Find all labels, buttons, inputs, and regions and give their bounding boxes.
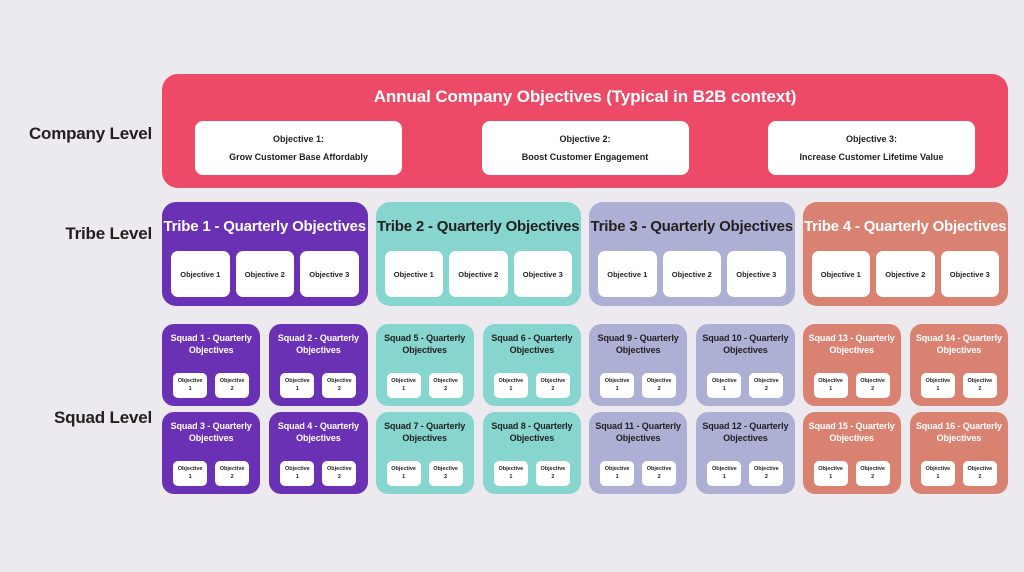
squad-objective-boxes: Objective1Objective2 — [910, 373, 1008, 398]
squad-group: Squad 9 - Quarterly ObjectivesObjective1… — [589, 324, 795, 406]
squad-objective-number: 2 — [551, 474, 554, 482]
squad-title: Squad 3 - Quarterly Objectives — [168, 420, 254, 444]
tribe-objective-box[interactable]: Objective 1 — [171, 251, 230, 297]
squad-objective-number: 1 — [723, 474, 726, 482]
squad-objective-number: 2 — [978, 386, 981, 394]
squad-objective-boxes: Objective1Objective2 — [696, 373, 794, 398]
squad-title: Squad 2 - Quarterly Objectives — [275, 332, 361, 356]
squad-row-top: Squad 1 - Quarterly ObjectivesObjective1… — [162, 324, 1008, 406]
squad-objective-box[interactable]: Objective2 — [642, 373, 676, 398]
squad-objective-number: 2 — [765, 474, 768, 482]
squad-objective-box[interactable]: Objective1 — [921, 373, 955, 398]
company-objective-text: Boost Customer Engagement — [522, 152, 649, 162]
squad-objective-box[interactable]: Objective1 — [494, 373, 528, 398]
squad-objective-boxes: Objective1Objective2 — [589, 461, 687, 486]
squad-objective-word: Objective — [540, 466, 565, 474]
squad-objective-box[interactable]: Objective1 — [280, 373, 314, 398]
squad-objective-box[interactable]: Objective1 — [280, 461, 314, 486]
company-objective-card[interactable]: Objective 1:Grow Customer Base Affordabl… — [195, 121, 402, 175]
squad-objective-box[interactable]: Objective1 — [600, 461, 634, 486]
squad-card[interactable]: Squad 16 - Quarterly ObjectivesObjective… — [910, 412, 1008, 494]
squad-card[interactable]: Squad 11 - Quarterly ObjectivesObjective… — [589, 412, 687, 494]
squad-title: Squad 6 - Quarterly Objectives — [489, 332, 575, 356]
squad-level-label: Squad Level — [0, 408, 152, 428]
squad-card[interactable]: Squad 10 - Quarterly ObjectivesObjective… — [696, 324, 794, 406]
tribe-card[interactable]: Tribe 3 - Quarterly ObjectivesObjective … — [589, 202, 795, 306]
squad-objective-boxes: Objective1Objective2 — [162, 373, 260, 398]
squad-objective-boxes: Objective1Objective2 — [803, 373, 901, 398]
squad-title: Squad 4 - Quarterly Objectives — [275, 420, 361, 444]
squad-title: Squad 16 - Quarterly Objectives — [916, 420, 1002, 444]
tribe-objective-boxes: Objective 1Objective 2Objective 3 — [598, 251, 786, 297]
tribe-objective-box[interactable]: Objective 2 — [663, 251, 722, 297]
squad-objective-box[interactable]: Objective1 — [814, 373, 848, 398]
tribe-objective-box[interactable]: Objective 3 — [727, 251, 786, 297]
squad-objective-word: Objective — [605, 466, 630, 474]
squad-objective-number: 2 — [444, 474, 447, 482]
squad-group: Squad 11 - Quarterly ObjectivesObjective… — [589, 412, 795, 494]
squad-objective-number: 1 — [829, 386, 832, 394]
squad-card[interactable]: Squad 6 - Quarterly ObjectivesObjective1… — [483, 324, 581, 406]
squad-objective-boxes: Objective1Objective2 — [589, 373, 687, 398]
tribe-title: Tribe 1 - Quarterly Objectives — [162, 218, 368, 235]
squad-objective-box[interactable]: Objective1 — [814, 461, 848, 486]
company-level-band: Annual Company Objectives (Typical in B2… — [162, 74, 1008, 188]
tribe-objective-box[interactable]: Objective 2 — [236, 251, 295, 297]
tribe-objective-box[interactable]: Objective 3 — [941, 251, 1000, 297]
squad-card[interactable]: Squad 13 - Quarterly ObjectivesObjective… — [803, 324, 901, 406]
squad-group: Squad 7 - Quarterly ObjectivesObjective1… — [376, 412, 582, 494]
squad-title: Squad 7 - Quarterly Objectives — [382, 420, 468, 444]
squad-objective-box[interactable]: Objective2 — [322, 461, 356, 486]
squad-objective-box[interactable]: Objective1 — [494, 461, 528, 486]
squad-title: Squad 10 - Quarterly Objectives — [702, 332, 788, 356]
squad-objective-word: Objective — [220, 466, 245, 474]
squad-title: Squad 14 - Quarterly Objectives — [916, 332, 1002, 356]
squad-objective-word: Objective — [391, 466, 416, 474]
squad-objective-number: 1 — [509, 474, 512, 482]
squad-objective-number: 1 — [189, 474, 192, 482]
squad-objective-word: Objective — [220, 378, 245, 386]
squad-objective-number: 1 — [509, 386, 512, 394]
squad-objective-box[interactable]: Objective2 — [856, 461, 890, 486]
squad-objective-word: Objective — [498, 378, 523, 386]
squad-objective-box[interactable]: Objective1 — [387, 373, 421, 398]
squad-objective-box[interactable]: Objective2 — [429, 461, 463, 486]
squad-objective-number: 1 — [402, 474, 405, 482]
squad-objective-number: 1 — [936, 474, 939, 482]
squad-card[interactable]: Squad 2 - Quarterly ObjectivesObjective1… — [269, 324, 367, 406]
squad-group: Squad 13 - Quarterly ObjectivesObjective… — [803, 324, 1009, 406]
tribe-card[interactable]: Tribe 2 - Quarterly ObjectivesObjective … — [376, 202, 582, 306]
squad-card[interactable]: Squad 15 - Quarterly ObjectivesObjective… — [803, 412, 901, 494]
tribe-level-label: Tribe Level — [0, 224, 152, 244]
squad-card[interactable]: Squad 4 - Quarterly ObjectivesObjective1… — [269, 412, 367, 494]
squad-title: Squad 11 - Quarterly Objectives — [595, 420, 681, 444]
tribe-objective-boxes: Objective 1Objective 2Objective 3 — [385, 251, 573, 297]
squad-objective-box[interactable]: Objective2 — [536, 373, 570, 398]
squad-objective-word: Objective — [647, 378, 672, 386]
squad-objective-word: Objective — [860, 466, 885, 474]
squad-objective-boxes: Objective1Objective2 — [269, 373, 367, 398]
tribe-objective-box[interactable]: Objective 1 — [812, 251, 871, 297]
company-objective-card[interactable]: Objective 2:Boost Customer Engagement — [482, 121, 689, 175]
tribe-objective-box[interactable]: Objective 2 — [876, 251, 935, 297]
squad-objective-boxes: Objective1Objective2 — [269, 461, 367, 486]
squad-objective-number: 2 — [978, 474, 981, 482]
squad-objective-box[interactable]: Objective2 — [749, 461, 783, 486]
squad-objective-number: 2 — [871, 386, 874, 394]
squad-objective-box[interactable]: Objective1 — [707, 461, 741, 486]
squad-objective-word: Objective — [327, 466, 352, 474]
squad-objective-boxes: Objective1Objective2 — [483, 373, 581, 398]
squad-objective-word: Objective — [285, 466, 310, 474]
company-level-label: Company Level — [0, 124, 152, 144]
squad-objective-word: Objective — [433, 466, 458, 474]
squad-objective-boxes: Objective1Objective2 — [376, 461, 474, 486]
squad-objective-box[interactable]: Objective1 — [707, 373, 741, 398]
tribe-objective-box[interactable]: Objective 3 — [300, 251, 359, 297]
squad-objective-word: Objective — [967, 466, 992, 474]
squad-objective-number: 1 — [616, 474, 619, 482]
tribe-objective-boxes: Objective 1Objective 2Objective 3 — [812, 251, 1000, 297]
squad-title: Squad 15 - Quarterly Objectives — [809, 420, 895, 444]
squad-objective-box[interactable]: Objective2 — [215, 373, 249, 398]
squad-card[interactable]: Squad 9 - Quarterly ObjectivesObjective1… — [589, 324, 687, 406]
tribe-objective-box[interactable]: Objective 1 — [385, 251, 444, 297]
squad-objective-box[interactable]: Objective2 — [749, 373, 783, 398]
company-objective-heading: Objective 2: — [559, 134, 610, 144]
squad-objective-number: 1 — [296, 386, 299, 394]
squad-title: Squad 1 - Quarterly Objectives — [168, 332, 254, 356]
squad-objective-box[interactable]: Objective2 — [536, 461, 570, 486]
squad-title: Squad 5 - Quarterly Objectives — [382, 332, 468, 356]
squad-objective-number: 1 — [829, 474, 832, 482]
squad-objective-number: 2 — [765, 386, 768, 394]
squad-objective-word: Objective — [967, 378, 992, 386]
squad-objective-word: Objective — [712, 378, 737, 386]
squad-group: Squad 3 - Quarterly ObjectivesObjective1… — [162, 412, 368, 494]
squad-objective-word: Objective — [818, 378, 843, 386]
squad-objective-number: 2 — [551, 386, 554, 394]
squad-objective-word: Objective — [327, 378, 352, 386]
squad-objective-box[interactable]: Objective2 — [963, 461, 997, 486]
squad-objective-boxes: Objective1Objective2 — [483, 461, 581, 486]
squad-objective-word: Objective — [605, 378, 630, 386]
squad-objective-box[interactable]: Objective1 — [921, 461, 955, 486]
squad-title: Squad 12 - Quarterly Objectives — [702, 420, 788, 444]
squad-objective-boxes: Objective1Objective2 — [696, 461, 794, 486]
squad-group: Squad 5 - Quarterly ObjectivesObjective1… — [376, 324, 582, 406]
tribe-objective-box[interactable]: Objective 3 — [514, 251, 573, 297]
squad-objective-word: Objective — [498, 466, 523, 474]
squad-objective-word: Objective — [647, 466, 672, 474]
squad-objective-word: Objective — [754, 378, 779, 386]
tribe-objective-box[interactable]: Objective 2 — [449, 251, 508, 297]
company-objective-heading: Objective 3: — [846, 134, 897, 144]
squad-objective-box[interactable]: Objective2 — [856, 373, 890, 398]
squad-objective-boxes: Objective1Objective2 — [162, 461, 260, 486]
squad-objective-number: 1 — [936, 386, 939, 394]
squad-objective-box[interactable]: Objective2 — [642, 461, 676, 486]
squad-objective-word: Objective — [540, 378, 565, 386]
squad-objective-word: Objective — [818, 466, 843, 474]
squad-card[interactable]: Squad 12 - Quarterly ObjectivesObjective… — [696, 412, 794, 494]
squad-objective-number: 1 — [616, 386, 619, 394]
squad-objective-word: Objective — [925, 466, 950, 474]
squad-objective-number: 1 — [402, 386, 405, 394]
squad-objective-boxes: Objective1Objective2 — [803, 461, 901, 486]
tribe-title: Tribe 3 - Quarterly Objectives — [589, 218, 795, 235]
tribe-objective-box[interactable]: Objective 1 — [598, 251, 657, 297]
tribe-card[interactable]: Tribe 4 - Quarterly ObjectivesObjective … — [803, 202, 1009, 306]
squad-objective-word: Objective — [391, 378, 416, 386]
tribe-card[interactable]: Tribe 1 - Quarterly ObjectivesObjective … — [162, 202, 368, 306]
company-objective-card[interactable]: Objective 3:Increase Customer Lifetime V… — [768, 121, 975, 175]
squad-row-bottom: Squad 3 - Quarterly ObjectivesObjective1… — [162, 412, 1008, 494]
squad-objective-box[interactable]: Objective1 — [173, 461, 207, 486]
company-objective-cards: Objective 1:Grow Customer Base Affordabl… — [162, 121, 1008, 175]
squad-objective-number: 2 — [658, 474, 661, 482]
squad-title: Squad 8 - Quarterly Objectives — [489, 420, 575, 444]
squad-objective-number: 2 — [338, 474, 341, 482]
squad-objective-number: 1 — [189, 386, 192, 394]
squad-group: Squad 15 - Quarterly ObjectivesObjective… — [803, 412, 1009, 494]
squad-objective-number: 2 — [231, 386, 234, 394]
company-objective-text: Increase Customer Lifetime Value — [799, 152, 943, 162]
squad-card[interactable]: Squad 1 - Quarterly ObjectivesObjective1… — [162, 324, 260, 406]
squad-level-area: Squad 1 - Quarterly ObjectivesObjective1… — [162, 324, 1008, 496]
squad-objective-number: 1 — [723, 386, 726, 394]
company-objective-heading: Objective 1: — [273, 134, 324, 144]
squad-objective-number: 2 — [338, 386, 341, 394]
squad-objective-number: 2 — [658, 386, 661, 394]
squad-objective-box[interactable]: Objective2 — [963, 373, 997, 398]
squad-title: Squad 13 - Quarterly Objectives — [809, 332, 895, 356]
squad-objective-number: 2 — [871, 474, 874, 482]
squad-card[interactable]: Squad 14 - Quarterly ObjectivesObjective… — [910, 324, 1008, 406]
tribe-objective-boxes: Objective 1Objective 2Objective 3 — [171, 251, 359, 297]
squad-objective-number: 1 — [296, 474, 299, 482]
squad-objective-boxes: Objective1Objective2 — [910, 461, 1008, 486]
tribe-title: Tribe 2 - Quarterly Objectives — [376, 218, 582, 235]
squad-objective-boxes: Objective1Objective2 — [376, 373, 474, 398]
squad-card[interactable]: Squad 5 - Quarterly ObjectivesObjective1… — [376, 324, 474, 406]
squad-objective-word: Objective — [860, 378, 885, 386]
company-objectives-title: Annual Company Objectives (Typical in B2… — [162, 87, 1008, 107]
squad-group: Squad 1 - Quarterly ObjectivesObjective1… — [162, 324, 368, 406]
squad-objective-box[interactable]: Objective1 — [173, 373, 207, 398]
squad-objective-box[interactable]: Objective2 — [322, 373, 356, 398]
tribe-level-row: Tribe 1 - Quarterly ObjectivesObjective … — [162, 202, 1008, 306]
squad-card[interactable]: Squad 3 - Quarterly ObjectivesObjective1… — [162, 412, 260, 494]
squad-objective-word: Objective — [178, 466, 203, 474]
squad-card[interactable]: Squad 8 - Quarterly ObjectivesObjective1… — [483, 412, 581, 494]
squad-objective-box[interactable]: Objective1 — [600, 373, 634, 398]
squad-objective-word: Objective — [754, 466, 779, 474]
squad-objective-box[interactable]: Objective1 — [387, 461, 421, 486]
squad-card[interactable]: Squad 7 - Quarterly ObjectivesObjective1… — [376, 412, 474, 494]
squad-objective-box[interactable]: Objective2 — [215, 461, 249, 486]
squad-objective-word: Objective — [925, 378, 950, 386]
squad-objective-box[interactable]: Objective2 — [429, 373, 463, 398]
squad-objective-word: Objective — [433, 378, 458, 386]
tribe-title: Tribe 4 - Quarterly Objectives — [803, 218, 1009, 235]
squad-objective-word: Objective — [285, 378, 310, 386]
company-objective-text: Grow Customer Base Affordably — [229, 152, 368, 162]
squad-objective-word: Objective — [712, 466, 737, 474]
squad-title: Squad 9 - Quarterly Objectives — [595, 332, 681, 356]
squad-objective-word: Objective — [178, 378, 203, 386]
squad-objective-number: 2 — [231, 474, 234, 482]
level-labels-column: Company Level Tribe Level Squad Level — [0, 0, 152, 572]
squad-objective-number: 2 — [444, 386, 447, 394]
okr-hierarchy-diagram: Company Level Tribe Level Squad Level An… — [0, 0, 1024, 572]
